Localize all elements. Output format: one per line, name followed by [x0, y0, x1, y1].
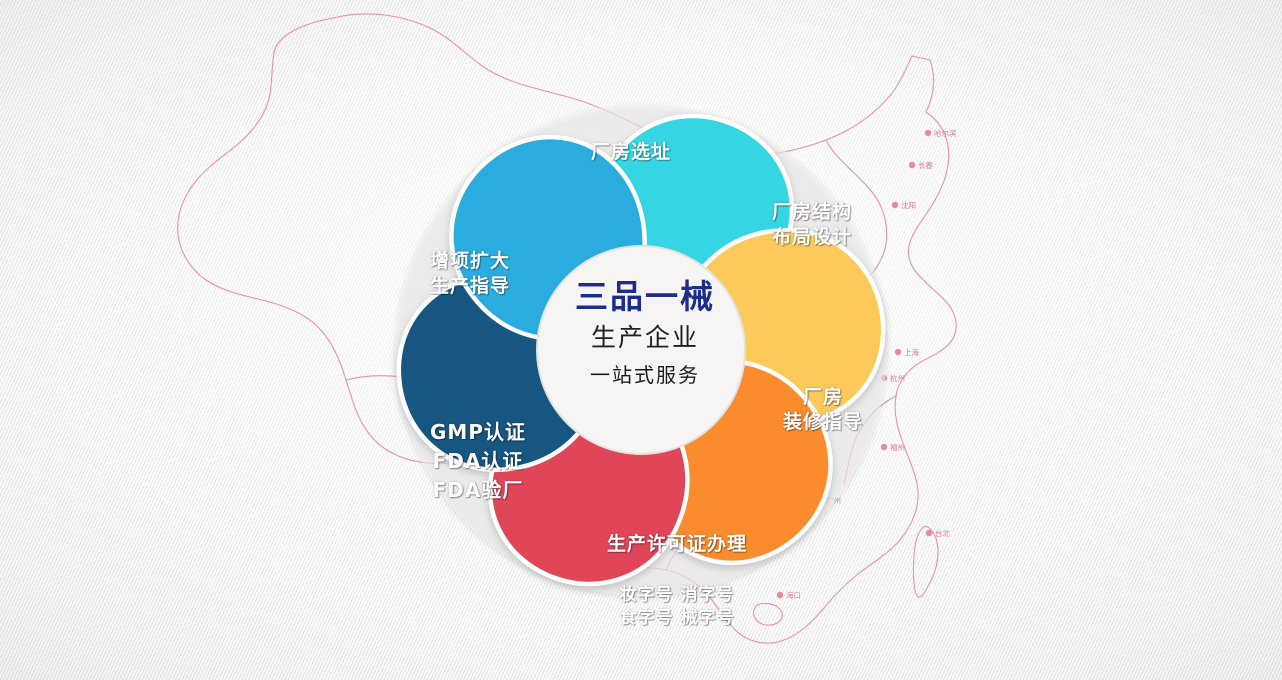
poster-canvas: 哈尔滨长春沈阳北京济南郑州南京上海武汉杭州福州广州台北西安成都昆明海口: [0, 0, 1282, 680]
wheel-center-disc: [537, 246, 745, 454]
service-wheel-diagram: [341, 60, 941, 640]
